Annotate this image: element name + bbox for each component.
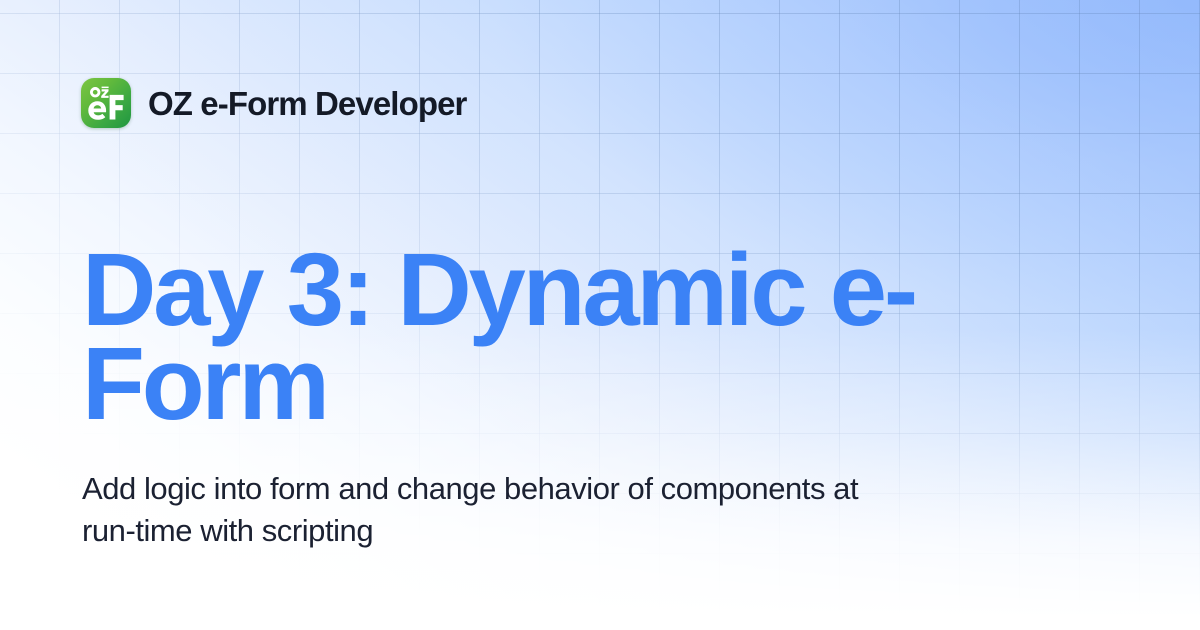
page-title: Day 3: Dynamic e-Form xyxy=(82,243,962,430)
page-subtitle: Add logic into form and change behavior … xyxy=(82,468,882,552)
banner-content: OZ e-Form Developer Day 3: Dynamic e-For… xyxy=(0,0,1200,630)
oz-eform-logo-icon xyxy=(81,78,131,128)
social-card-banner: OZ e-Form Developer Day 3: Dynamic e-For… xyxy=(0,0,1200,630)
brand-title: OZ e-Form Developer xyxy=(148,87,466,120)
brand-lockup: OZ e-Form Developer xyxy=(81,78,466,128)
